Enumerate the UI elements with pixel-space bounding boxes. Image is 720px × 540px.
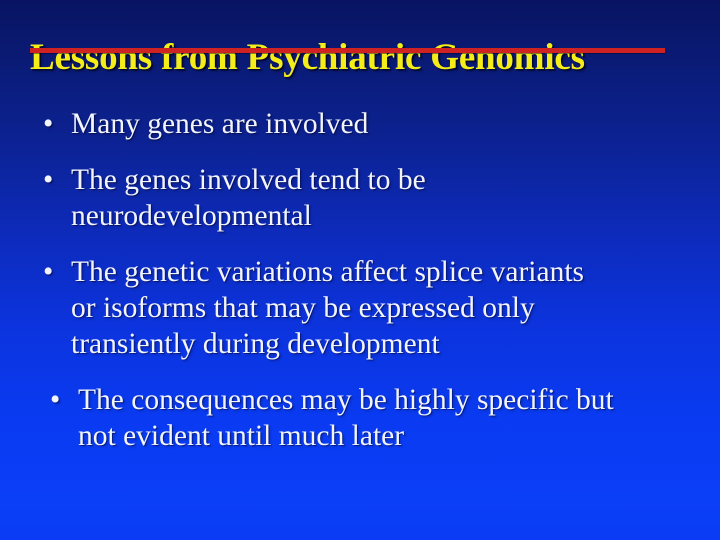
bullet-text: The genes involved tend to beneurodevelo… bbox=[71, 162, 720, 234]
presentation-slide: Lessons from Psychiatric Genomics •Many … bbox=[0, 0, 720, 540]
bullet-text: Many genes are involved bbox=[71, 106, 720, 142]
slide-title-block: Lessons from Psychiatric Genomics bbox=[0, 36, 720, 92]
bullet-item: •Many genes are involved bbox=[0, 106, 720, 142]
bullet-line: The genes involved tend to be bbox=[71, 162, 702, 198]
bullet-line: not evident until much later bbox=[78, 418, 702, 454]
bullet-line: or isoforms that may be expressed only bbox=[71, 290, 702, 326]
bullet-text: The genetic variations affect splice var… bbox=[71, 254, 720, 362]
bullet-item: •The genetic variations affect splice va… bbox=[0, 254, 720, 362]
bullet-text: The consequences may be highly specific … bbox=[78, 382, 720, 454]
bullet-item: •The genes involved tend to beneurodevel… bbox=[0, 162, 720, 234]
bullet-point-icon: • bbox=[43, 106, 71, 142]
bullet-line: neurodevelopmental bbox=[71, 198, 702, 234]
bullet-line: The consequences may be highly specific … bbox=[78, 382, 702, 418]
bullet-item: •The consequences may be highly specific… bbox=[0, 382, 720, 454]
title-underline-rule bbox=[30, 48, 665, 53]
slide-title: Lessons from Psychiatric Genomics bbox=[0, 36, 720, 80]
bullet-point-icon: • bbox=[43, 162, 71, 198]
bullet-line: transiently during development bbox=[71, 326, 702, 362]
bullet-line: The genetic variations affect splice var… bbox=[71, 254, 702, 290]
bullet-point-icon: • bbox=[43, 254, 71, 290]
bullet-line: Many genes are involved bbox=[71, 106, 702, 142]
slide-body: •Many genes are involved•The genes invol… bbox=[0, 106, 720, 454]
bullet-point-icon: • bbox=[50, 382, 78, 418]
